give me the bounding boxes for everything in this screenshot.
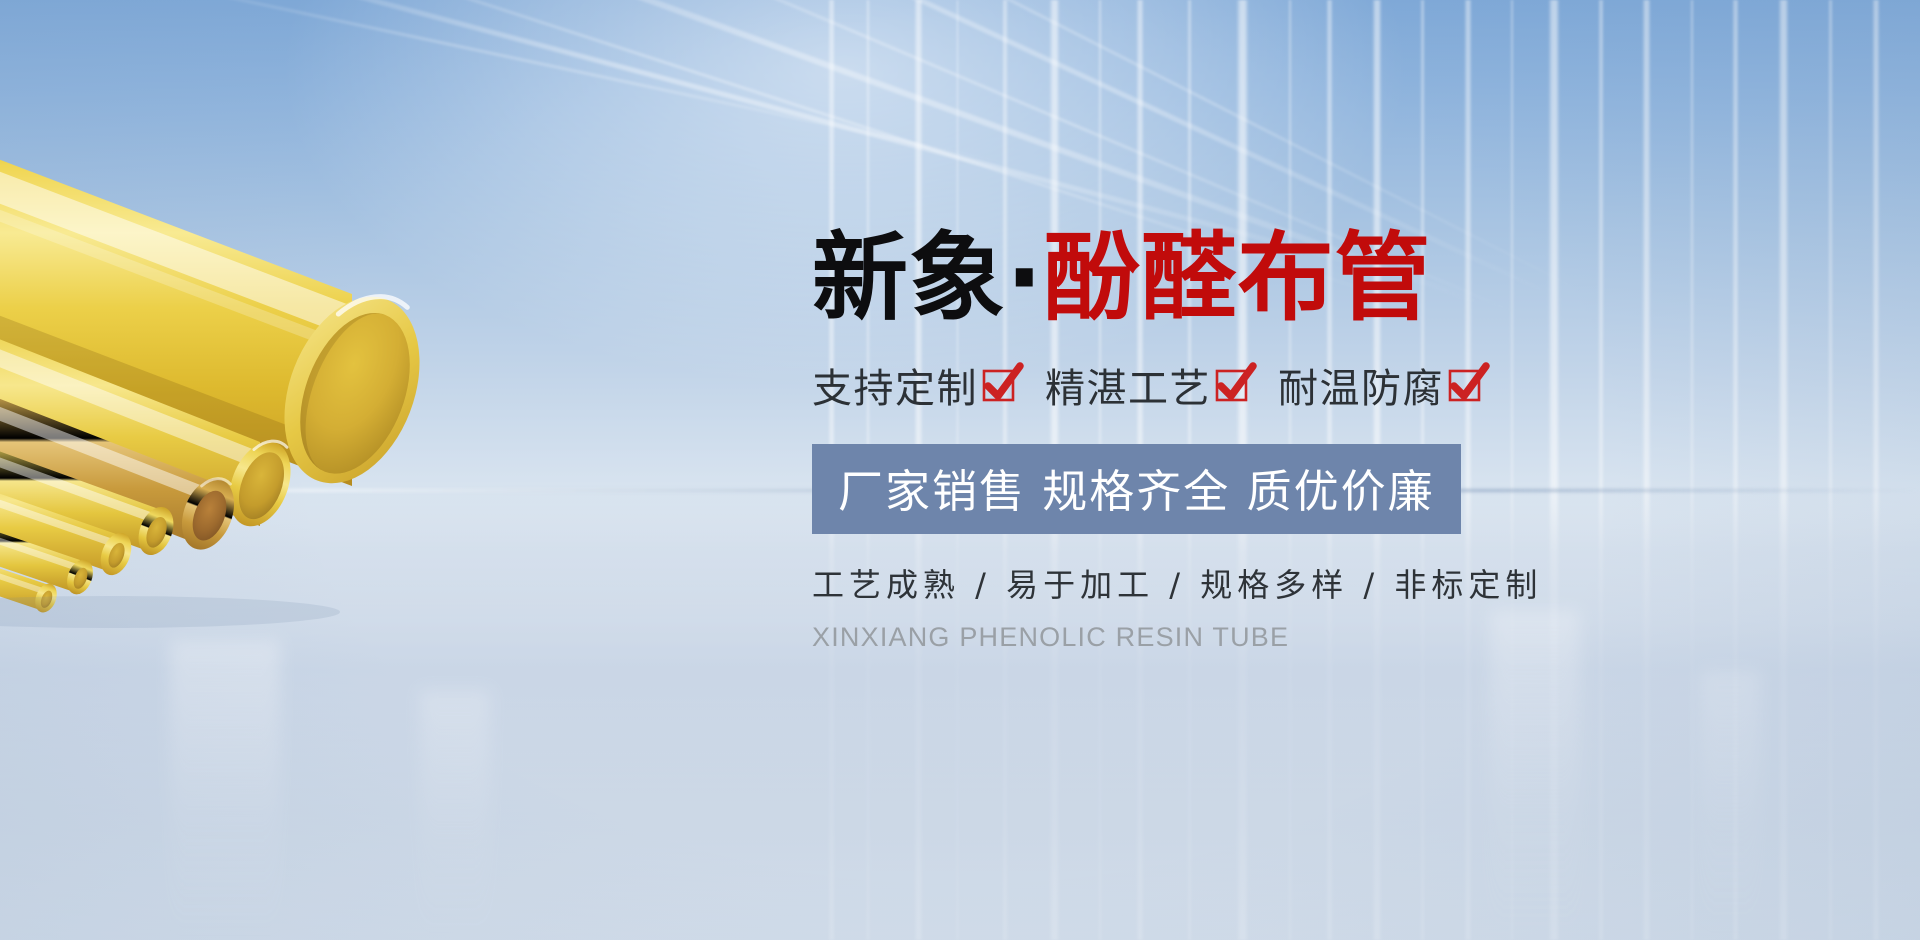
product-banner: 新象·酚醛布管 支持定制 精湛工艺 — [0, 0, 1920, 940]
title-product: 酚醛布管 — [1043, 222, 1431, 334]
floor-reflection-c — [1490, 610, 1580, 940]
page-title: 新象·酚醛布管 — [812, 228, 1632, 330]
feature-item-0: 支持定制 — [812, 356, 1017, 414]
title-brand: 新象 — [812, 222, 1006, 334]
checkbox-checked-icon — [983, 368, 1017, 402]
feature-label-0: 支持定制 — [812, 356, 978, 414]
floor-reflection-a — [170, 640, 280, 940]
checkbox-checked-icon — [1449, 368, 1483, 402]
checkbox-checked-icon — [1216, 368, 1250, 402]
product-image-phenolic-tubes — [0, 52, 594, 612]
banner-text-block: 新象·酚醛布管 支持定制 精湛工艺 — [812, 228, 1632, 653]
feature-item-2: 耐温防腐 — [1278, 356, 1483, 414]
highlight-banner-bar: 厂家销售 规格齐全 质优价廉 — [812, 444, 1461, 534]
floor-reflection-d — [1700, 670, 1760, 940]
feature-list: 支持定制 精湛工艺 耐温防腐 — [812, 356, 1632, 414]
feature-label-2: 耐温防腐 — [1278, 356, 1444, 414]
feature-label-1: 精湛工艺 — [1045, 356, 1211, 414]
title-separator: · — [1006, 222, 1043, 334]
tagline: 工艺成熟 / 易于加工 / 规格多样 / 非标定制 — [812, 560, 1632, 606]
floor-reflection-b — [420, 690, 490, 940]
feature-item-1: 精湛工艺 — [1045, 356, 1250, 414]
highlight-banner-text: 厂家销售 规格齐全 质优价廉 — [838, 465, 1435, 518]
english-subtitle: XINXIANG PHENOLIC RESIN TUBE — [812, 622, 1632, 653]
